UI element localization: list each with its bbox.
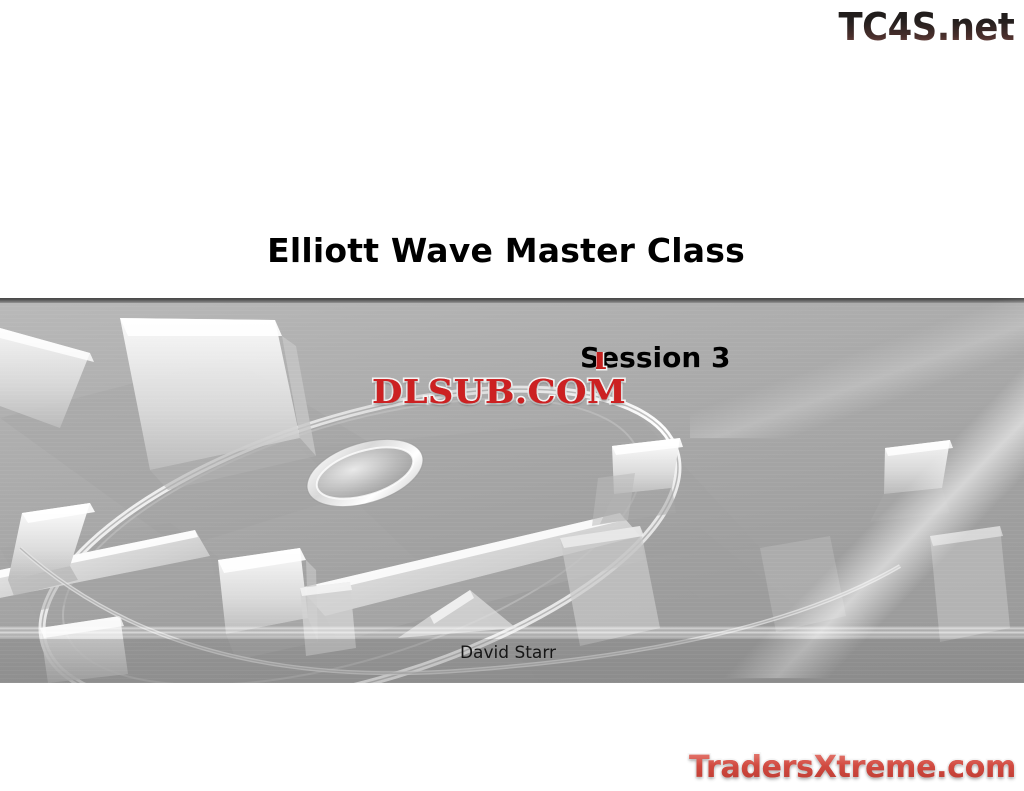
watermark-ghost-text: DLSUB.COM <box>596 352 607 374</box>
tradersxtreme-logo: TradersXtreme.com <box>689 750 1016 785</box>
decorative-image-band <box>0 298 1024 683</box>
presentation-slide: TC4S.net Elliott Wave Master Class <box>0 0 1024 791</box>
band-horizontal-sheen <box>0 626 1024 639</box>
watermark-ghost: DLSUB.COM <box>596 352 680 374</box>
slide-title: Elliott Wave Master Class <box>0 231 1018 270</box>
dlsub-watermark: DLSUB.COM <box>372 372 626 411</box>
slide-author: David Starr <box>0 643 1020 663</box>
tc4s-net-logo: TC4S.net <box>835 2 1018 50</box>
